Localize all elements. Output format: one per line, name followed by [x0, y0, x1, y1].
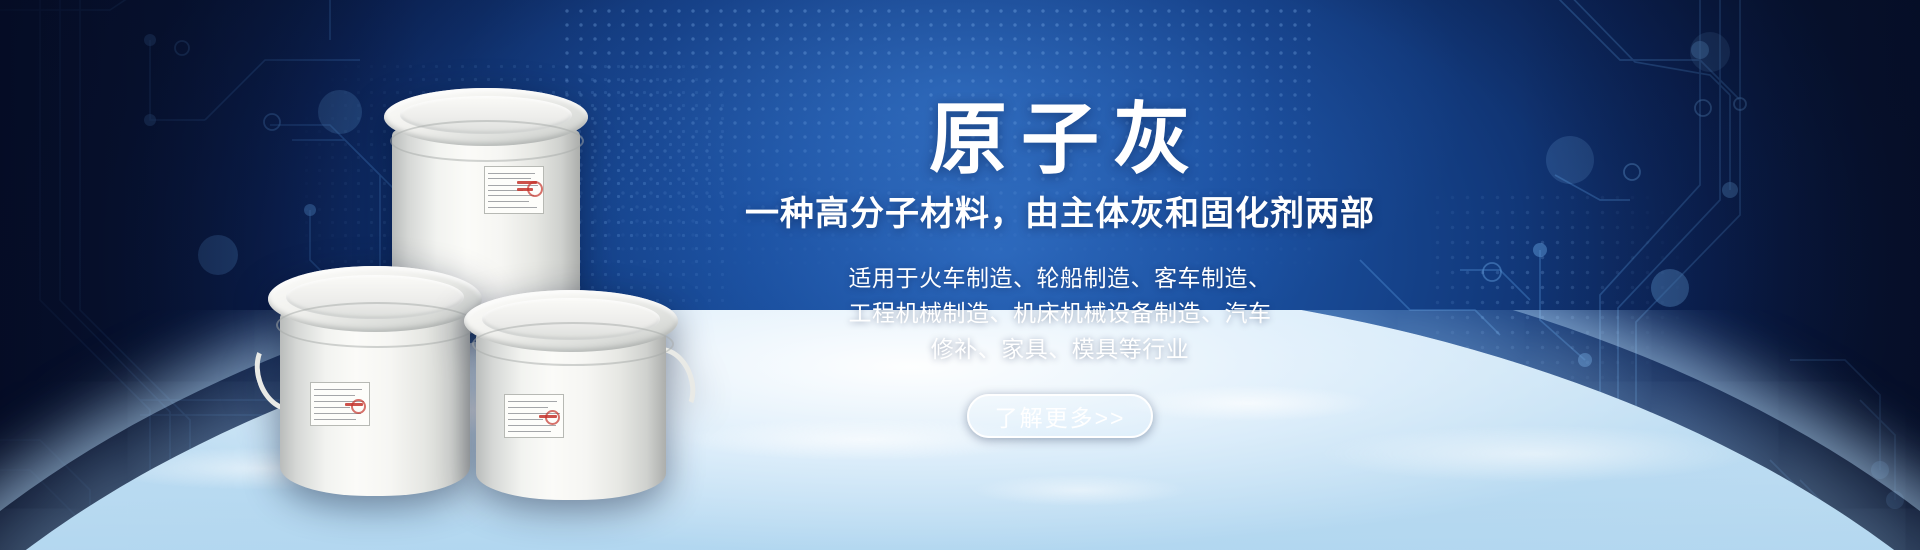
description-line-1: 适用于火车制造、轮船制造、客车制造、	[620, 261, 1500, 297]
banner-copy: 原子灰 一种高分子材料，由主体灰和固化剂两部 适用于火车制造、轮船制造、客车制造…	[620, 100, 1500, 438]
banner-description: 适用于火车制造、轮船制造、客车制造、 工程机械制造、机床机械设备制造、汽车 修补…	[620, 261, 1500, 368]
pail-label	[310, 382, 370, 426]
learn-more-button[interactable]: 了解更多>>	[967, 394, 1154, 438]
product-pail-bottom-left	[262, 262, 482, 492]
page-title: 原子灰	[620, 100, 1500, 178]
pail-label	[484, 166, 544, 214]
description-line-3: 修补、家具、模具等行业	[620, 332, 1500, 368]
pail-label	[504, 394, 564, 438]
cta-row: 了解更多>>	[620, 394, 1500, 438]
product-hero-banner: 原子灰 一种高分子材料，由主体灰和固化剂两部 适用于火车制造、轮船制造、客车制造…	[0, 0, 1920, 550]
product-pails-group	[262, 78, 682, 478]
banner-subheadline: 一种高分子材料，由主体灰和固化剂两部	[620, 194, 1500, 235]
description-line-2: 工程机械制造、机床机械设备制造、汽车	[620, 296, 1500, 332]
